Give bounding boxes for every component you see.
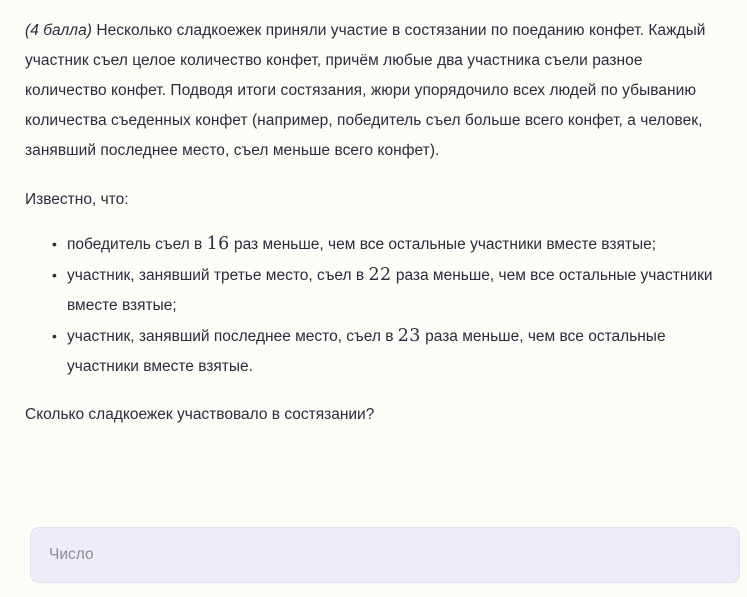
task-statement-text: Несколько сладкоежек приняли участие в с… — [25, 22, 706, 159]
answer-input-placeholder: Число — [49, 547, 94, 563]
task-page: (4 балла) Несколько сладкоежек приняли у… — [0, 0, 747, 597]
condition-number: 22 — [368, 265, 391, 285]
known-intro-line: Известно, что: — [25, 185, 720, 215]
condition-number: 16 — [207, 234, 230, 254]
conditions-list: победитель съел в 16 раз меньше, чем все… — [25, 229, 720, 382]
list-item: участник, занявший третье место, съел в … — [52, 260, 720, 321]
list-item: победитель съел в 16 раз меньше, чем все… — [52, 229, 720, 260]
task-statement: (4 балла) Несколько сладкоежек приняли у… — [25, 16, 720, 166]
condition-prefix: участник, занявший третье место, съел в — [67, 267, 368, 284]
task-question: Сколько сладкоежек участвовало в состяза… — [25, 400, 720, 430]
list-item: участник, занявший последнее место, съел… — [52, 321, 720, 382]
answer-input-wrapper[interactable]: Число — [30, 527, 740, 583]
condition-suffix: раз меньше, чем все остальные участники … — [230, 236, 656, 253]
condition-prefix: участник, занявший последнее место, съел… — [67, 328, 398, 345]
condition-prefix: победитель съел в — [67, 236, 207, 253]
task-points-label: (4 балла) — [25, 22, 92, 39]
condition-number: 23 — [398, 326, 421, 346]
